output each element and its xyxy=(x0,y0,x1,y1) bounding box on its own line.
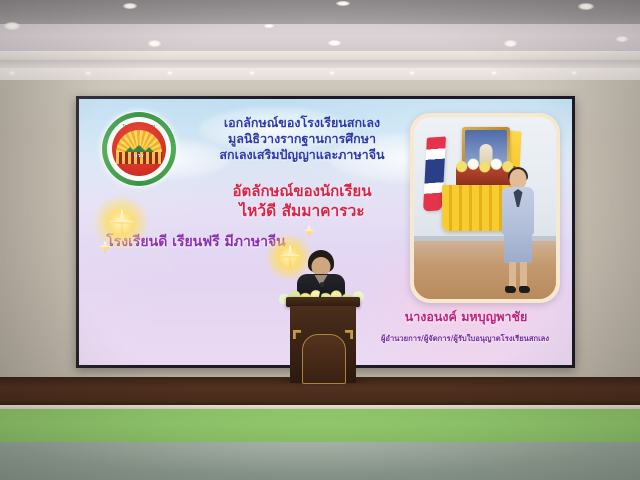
ceiling-downlight xyxy=(148,40,161,47)
cove-led xyxy=(410,72,414,74)
cove-led xyxy=(10,72,14,74)
cove-led xyxy=(492,72,496,74)
blue-line-2: มูลนิธิวางรากฐานการศึกษา xyxy=(191,131,413,147)
slide-headline-blue: เอกลักษณ์ของโรงเรียนสกเลง มูลนิธิวางรากฐ… xyxy=(191,115,413,163)
director-name: นางอนงค์ มหบุญพาชัย xyxy=(366,307,566,327)
blue-line-1: เอกลักษณ์ของโรงเรียนสกเลง xyxy=(191,115,413,131)
ceiling-downlight xyxy=(264,24,274,28)
lectern-body xyxy=(290,306,356,383)
lectern-gold-corner xyxy=(345,330,353,339)
screenshot-scene: โรงเรียนสกเลงวิทยา จังหวัดสระแก้ว บวร เอ… xyxy=(0,0,640,480)
director-role: ผู้อำนวยการ/ผู้จัดการ/ผู้รับใบอนุญาตโรงเ… xyxy=(362,333,568,345)
ceiling-downlight xyxy=(123,3,137,9)
sparkle-star-icon xyxy=(99,241,111,253)
cove-led xyxy=(86,72,90,74)
director-leg xyxy=(520,262,527,288)
ceiling-downlight xyxy=(328,40,341,46)
director-photo-card xyxy=(410,113,560,303)
cove-led xyxy=(330,72,334,74)
director-leg xyxy=(509,262,516,288)
lectern-gold-corner xyxy=(293,330,301,339)
ceiling-downlight xyxy=(616,36,628,42)
director-photo xyxy=(414,117,556,299)
ceiling-soffit-panel xyxy=(0,24,640,52)
logo-mini-text: บวร xyxy=(134,152,144,160)
director-skirt xyxy=(504,233,532,263)
cove-led xyxy=(572,72,576,74)
ceiling-downlight xyxy=(578,3,594,10)
director-shoe xyxy=(505,286,516,293)
ceiling-downlight xyxy=(336,1,350,6)
red-line-1: อัตลักษณ์ของนักเรียน xyxy=(191,181,413,201)
cove-led xyxy=(250,72,254,74)
blue-line-3: สกเลงเสริมปัญญาและภาษาจีน xyxy=(191,147,413,163)
school-logo: โรงเรียนสกเลงวิทยา จังหวัดสระแก้ว บวร xyxy=(101,111,177,187)
ceiling-upper-slab xyxy=(0,0,640,26)
slide-headline-red: อัตลักษณ์ของนักเรียน ไหว้ดี สัมมาคารวะ xyxy=(191,181,413,221)
sparkle-star-icon xyxy=(109,209,135,235)
ceiling-downlight xyxy=(4,22,20,30)
cove-led xyxy=(168,72,172,74)
director-head xyxy=(510,169,527,189)
logo-core-disc: บวร xyxy=(112,122,166,176)
director-figure xyxy=(496,169,540,295)
lectern-front-panel xyxy=(302,334,346,384)
lectern xyxy=(290,297,356,383)
ceiling-downlight xyxy=(504,40,517,47)
floor-reflection xyxy=(0,442,640,480)
stage-apron-green-band xyxy=(0,409,640,443)
director-shoe xyxy=(519,286,530,293)
sparkle-star-icon xyxy=(303,225,314,236)
red-line-2: ไหว้ดี สัมมาคารวะ xyxy=(191,201,413,221)
